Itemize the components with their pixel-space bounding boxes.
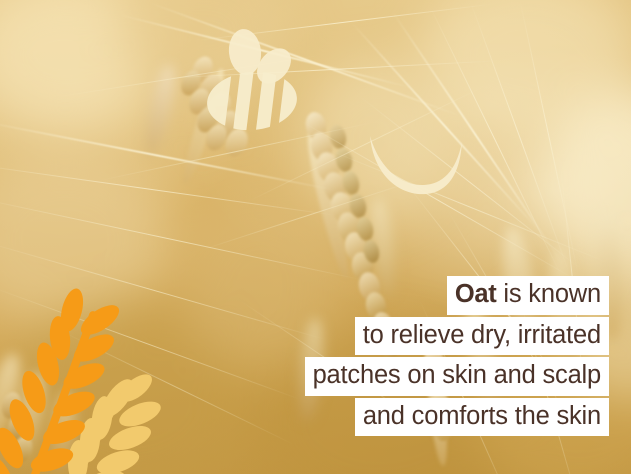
copy-line-1-rest: is known [497,280,602,308]
benefit-copy-block: Oat is known to relieve dry, irritated p… [279,276,609,436]
copy-line-3-rest: patches on skin and scalp [313,361,601,389]
copy-line-1: Oat is known [447,276,609,315]
copy-line-2: to relieve dry, irritated [355,317,609,356]
copy-line-1-lead: Oat [455,280,497,308]
copy-line-3: patches on skin and scalp [305,357,609,396]
copy-line-4: and comforts the skin [355,398,609,437]
banner-image: Oat is known to relieve dry, irritated p… [0,0,631,474]
copy-line-2-rest: to relieve dry, irritated [363,321,601,349]
copy-line-4-rest: and comforts the skin [363,402,601,430]
